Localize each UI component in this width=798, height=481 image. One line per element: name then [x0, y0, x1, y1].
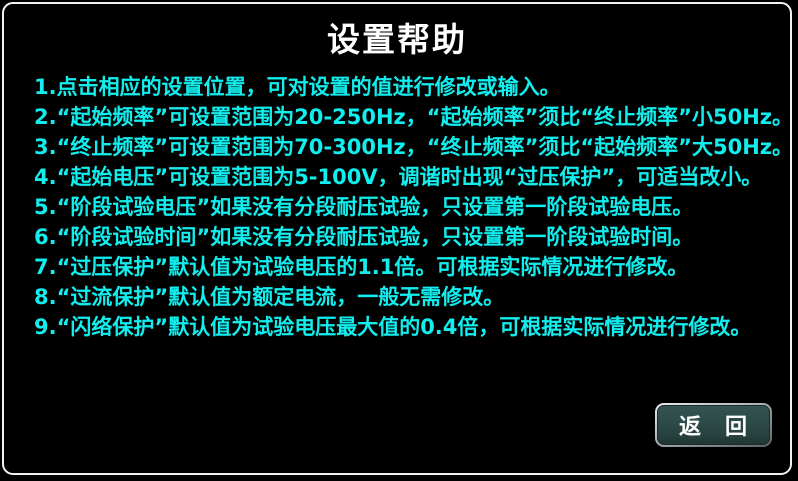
back-button-face: 返 回 [657, 405, 770, 445]
back-button-label: 返 回 [679, 409, 748, 441]
help-line-7: 7.“过压保护”默认值为试验电压的1.1倍。可根据实际情况进行修改。 [34, 252, 774, 282]
help-line-8: 8.“过流保护”默认值为额定电流，一般无需修改。 [34, 282, 774, 312]
help-line-1: 1.点击相应的设置位置，可对设置的值进行修改或输入。 [34, 72, 774, 102]
help-dialog-screen: 设置帮助 1.点击相应的设置位置，可对设置的值进行修改或输入。 2.“起始频率”… [0, 0, 798, 481]
help-line-4: 4.“起始电压”可设置范围为5-100V，调谐时出现“过压保护”，可适当改小。 [34, 162, 774, 192]
back-button[interactable]: 返 回 [655, 403, 772, 447]
help-line-9: 9.“闪络保护”默认值为试验电压最大值的0.4倍，可根据实际情况进行修改。 [34, 312, 774, 342]
help-line-5: 5.“阶段试验电压”如果没有分段耐压试验，只设置第一阶段试验电压。 [34, 192, 774, 222]
button-row: 返 回 [4, 403, 798, 453]
page-title: 设置帮助 [4, 20, 790, 60]
dialog-frame: 设置帮助 1.点击相应的设置位置，可对设置的值进行修改或输入。 2.“起始频率”… [2, 2, 792, 475]
help-line-3: 3.“终止频率”可设置范围为70-300Hz，“终止频率”须比“起始频率”大50… [34, 132, 774, 162]
help-line-2: 2.“起始频率”可设置范围为20-250Hz，“起始频率”须比“终止频率”小50… [34, 102, 774, 132]
help-line-6: 6.“阶段试验时间”如果没有分段耐压试验，只设置第一阶段试验时间。 [34, 222, 774, 252]
help-instruction-list: 1.点击相应的设置位置，可对设置的值进行修改或输入。 2.“起始频率”可设置范围… [34, 72, 774, 342]
